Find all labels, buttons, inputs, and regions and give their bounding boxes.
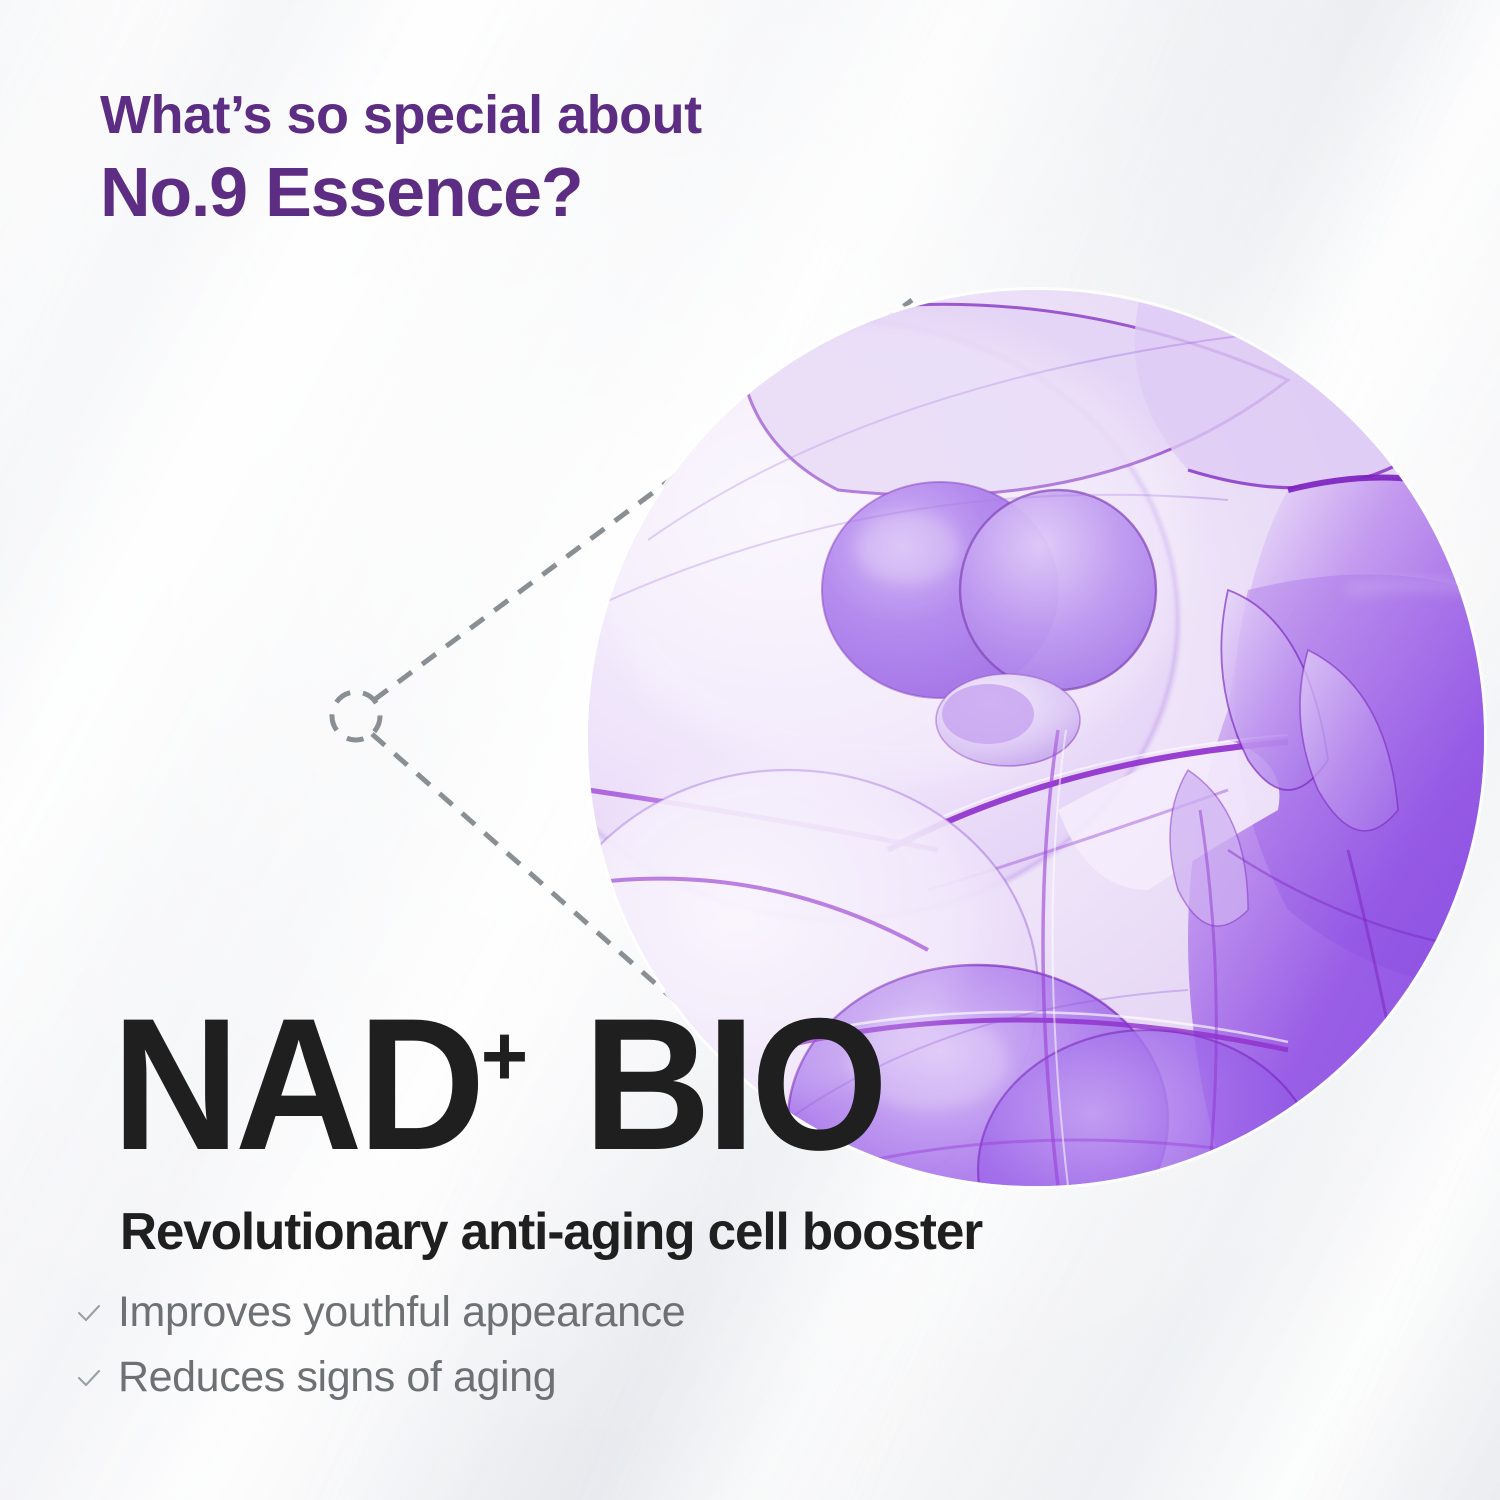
benefit-text: Reduces signs of aging: [118, 1353, 556, 1402]
list-item: Reduces signs of aging: [76, 1353, 685, 1402]
wordmark-main: NAD: [112, 979, 481, 1189]
product-feature-poster: What’s so special about No.9 Essence? NA…: [0, 0, 1500, 1500]
wordmark-superscript: +: [481, 1008, 528, 1104]
list-item: Improves youthful appearance: [76, 1288, 685, 1337]
benefit-list: Improves youthful appearance Reduces sig…: [76, 1288, 685, 1419]
product-wordmark: NAD+ BIO: [112, 990, 884, 1178]
check-icon: [76, 1365, 102, 1391]
page-title: What’s so special about No.9 Essence?: [100, 86, 920, 230]
check-icon: [76, 1300, 102, 1326]
headline-line-2: No.9 Essence?: [100, 156, 920, 230]
headline-line-1: What’s so special about: [100, 86, 920, 144]
benefit-text: Improves youthful appearance: [118, 1288, 685, 1337]
product-subtitle: Revolutionary anti-aging cell booster: [120, 1202, 982, 1262]
wordmark-tail: BIO: [583, 979, 883, 1189]
